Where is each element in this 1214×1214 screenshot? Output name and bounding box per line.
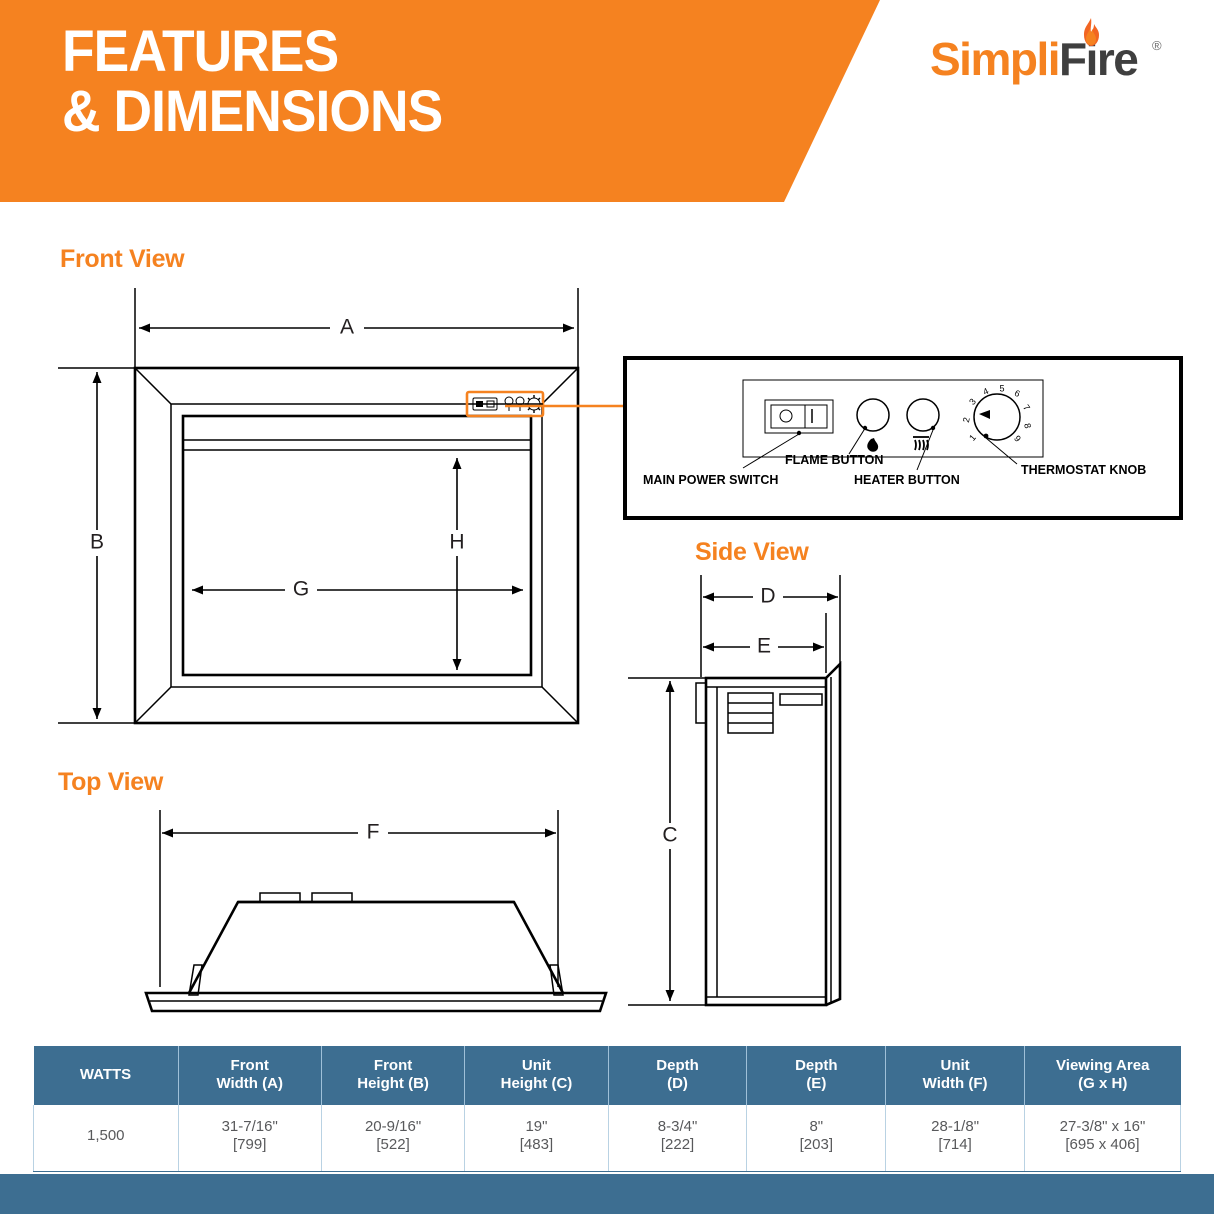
- top-view-drawing: F: [110, 805, 590, 1020]
- knob-number-7: 7: [1021, 403, 1032, 413]
- dim-label-h: H: [449, 531, 464, 554]
- table-row: 1,500 31-7/16" [799] 20-9/16" [522] 19" …: [34, 1105, 1181, 1172]
- dim-label-a: A: [340, 316, 354, 339]
- label-heater-button: HEATER BUTTON: [854, 473, 960, 487]
- cell-unit-height: 19" [483]: [465, 1105, 608, 1172]
- column-header-unit-height: Unit Height (C): [465, 1046, 608, 1105]
- logo-wordmark: SimpliFire: [930, 32, 1137, 86]
- cell-unit-width: 28-1/8" [714]: [886, 1105, 1025, 1172]
- page-footer-bar: [0, 1174, 1214, 1214]
- knob-number-9: 9: [1012, 433, 1023, 443]
- column-header-viewing-area: Viewing Area (G x H): [1024, 1046, 1180, 1105]
- dim-label-d: D: [760, 585, 775, 608]
- table-header-row: WATTS Front Width (A) Front Height (B) U…: [34, 1046, 1181, 1105]
- label-main-power-switch: MAIN POWER SWITCH: [643, 473, 778, 487]
- side-view-drawing: D E C: [618, 565, 898, 1025]
- label-flame-button: FLAME BUTTON: [785, 453, 883, 467]
- cell-depth-e: 8" [203]: [747, 1105, 886, 1172]
- knob-number-6: 6: [1013, 388, 1022, 399]
- column-header-watts: WATTS: [34, 1046, 179, 1105]
- knob-number-8: 8: [1022, 422, 1033, 429]
- column-header-front-height: Front Height (B): [321, 1046, 464, 1105]
- specifications-table: WATTS Front Width (A) Front Height (B) U…: [33, 1046, 1181, 1172]
- cell-front-width: 31-7/16" [799]: [178, 1105, 321, 1172]
- front-view-title: Front View: [60, 245, 184, 274]
- dim-label-c: C: [662, 824, 677, 847]
- logo-simpli-text: Simpli: [930, 33, 1059, 85]
- knob-number-5: 5: [999, 383, 1004, 393]
- registered-mark: ®: [1152, 38, 1162, 53]
- simplifire-logo: SimpliFire ®: [930, 26, 1178, 88]
- cell-viewing-area: 27-3/8" x 16" [695 x 406]: [1024, 1105, 1180, 1172]
- label-thermostat-knob: THERMOSTAT KNOB: [1021, 463, 1146, 477]
- knob-number-2: 2: [961, 416, 972, 423]
- cell-watts: 1,500: [34, 1105, 179, 1172]
- column-header-depth-d: Depth (D): [608, 1046, 747, 1105]
- page-title: FEATURES & DIMENSIONS: [62, 22, 442, 141]
- dim-label-e: E: [757, 635, 771, 658]
- cell-depth-d: 8-3/4" [222]: [608, 1105, 747, 1172]
- column-header-unit-width: Unit Width (F): [886, 1046, 1025, 1105]
- top-view-title: Top View: [58, 768, 163, 797]
- knob-number-3: 3: [967, 396, 978, 406]
- page-title-line1: FEATURES: [62, 22, 442, 82]
- side-view-title: Side View: [695, 538, 809, 567]
- dim-label-g: G: [293, 578, 309, 601]
- page-title-line2: & DIMENSIONS: [62, 82, 442, 142]
- knob-number-4: 4: [981, 386, 990, 397]
- column-header-front-width: Front Width (A): [178, 1046, 321, 1105]
- dim-label-b: B: [90, 531, 104, 554]
- control-panel-callout: 1 2 3 4 5 6 7 8 9 FLAME BUTTON MAIN POWE…: [505, 392, 1185, 527]
- flame-icon: [1078, 18, 1104, 52]
- dim-label-f: F: [367, 821, 380, 844]
- column-header-depth-e: Depth (E): [747, 1046, 886, 1105]
- cell-front-height: 20-9/16" [522]: [321, 1105, 464, 1172]
- knob-number-1: 1: [967, 432, 978, 442]
